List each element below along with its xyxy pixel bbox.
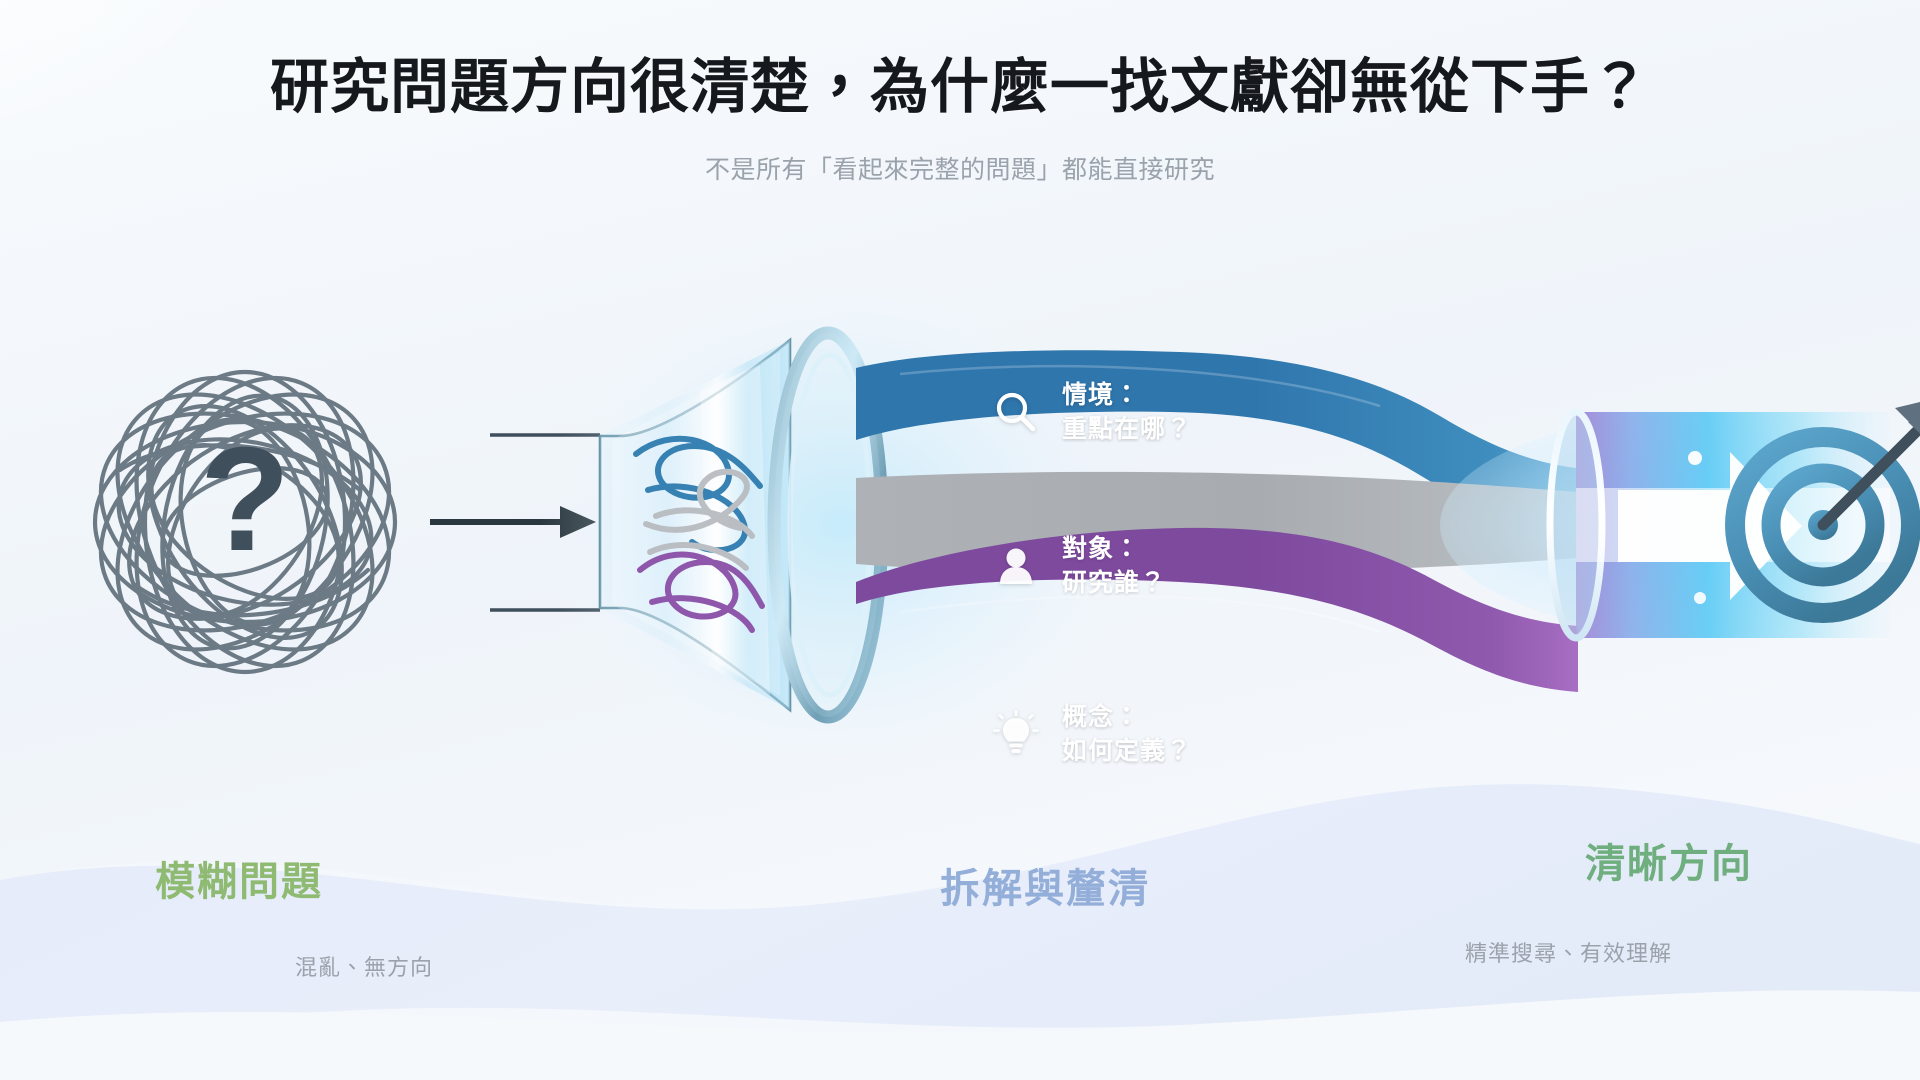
caption-middle: 拆解與釐清 xyxy=(940,865,1150,913)
caption-right: 清晰方向 精準搜尋、有效理解 xyxy=(1585,840,1753,968)
caption-right-title: 清晰方向 xyxy=(1585,840,1753,888)
header: 研究問題方向很清楚，為什麼一找文獻卻無從下手？ 不是所有「看起來完整的問題」都能… xyxy=(0,0,1920,186)
caption-right-subtitle: 精準搜尋、有效理解 xyxy=(1465,936,1753,968)
caption-left-title: 模糊問題 xyxy=(155,858,433,906)
caption-left: 模糊問題 混亂、無方向 xyxy=(155,858,433,982)
infographic-canvas: 研究問題方向很清楚，為什麼一找文獻卻無從下手？ 不是所有「看起來完整的問題」都能… xyxy=(0,0,1920,1080)
page-title: 研究問題方向很清楚，為什麼一找文獻卻無從下手？ xyxy=(0,0,1920,124)
funnel-process-diagram: ? xyxy=(0,240,1920,800)
question-mark-symbol: ? xyxy=(200,417,290,582)
page-subtitle: 不是所有「看起來完整的問題」都能直接研究 xyxy=(0,124,1920,186)
caption-middle-title: 拆解與釐清 xyxy=(940,865,1150,913)
caption-left-subtitle: 混亂、無方向 xyxy=(295,950,433,982)
